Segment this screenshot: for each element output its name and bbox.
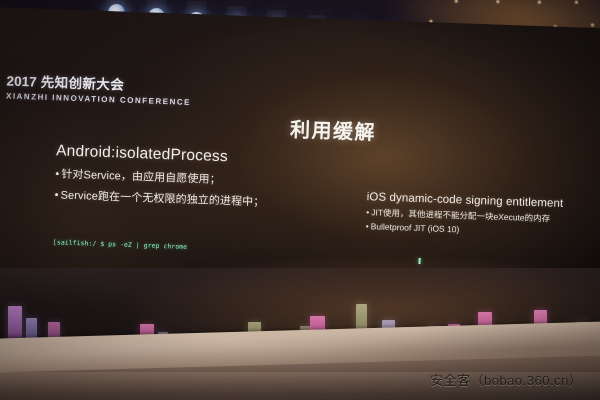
slide-title: 利用缓解: [290, 113, 377, 145]
conference-name-cn: 先知创新大会: [41, 75, 125, 93]
watermark: 安全客（bobao.360.cn）: [430, 370, 582, 389]
conference-stage-photo: 2017 先知创新大会 XIANZHI INNOVATION CONFERENC…: [0, 0, 600, 400]
left-bullet-2: Service跑在一个无权限的独立的进程中；: [54, 186, 284, 210]
slide-left-column: Android:isolatedProcess 针对Service，由应用自愿使…: [54, 142, 286, 210]
left-column-heading: Android:isolatedProcess: [56, 142, 286, 168]
terminal-command: [sailfish:/ $ ps -eZ | grep chrome: [53, 239, 187, 253]
conference-year: 2017: [6, 74, 37, 90]
left-bullet-1: 针对Service，由应用自愿使用；: [55, 165, 285, 189]
conference-logo: 2017 先知创新大会 XIANZHI INNOVATION CONFERENC…: [6, 70, 192, 107]
